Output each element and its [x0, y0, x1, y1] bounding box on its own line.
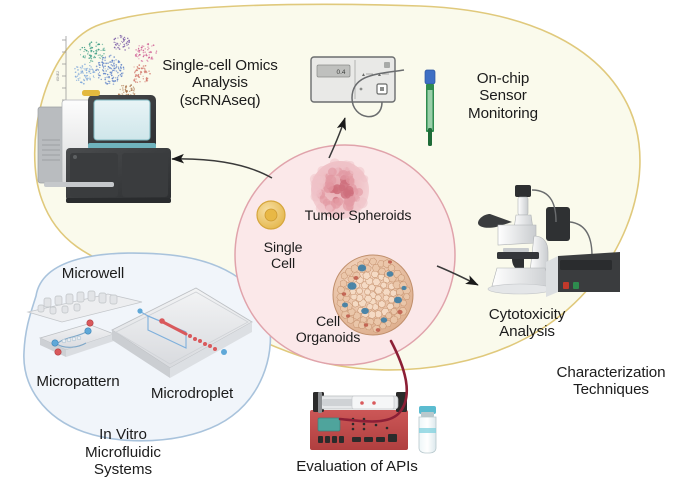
label-on-chip-sensor: On-chip Sensor Monitoring [444, 70, 562, 122]
label-invitro-italic: In Vitro [58, 426, 188, 444]
connectors [0, 0, 685, 490]
figure-canvas: tSNE2 0.4 [0, 0, 685, 490]
label-characterization-techniques: Characterization Techniques [538, 364, 684, 399]
arrow-core-to-sensor [329, 118, 345, 158]
label-tumor-spheroids: Tumor Spheroids [296, 208, 420, 224]
label-invitro-microfluidic-systems: In Vitro Microfluidic Systems [58, 426, 188, 479]
label-evaluation-of-apis: Evaluation of APIs [282, 458, 432, 475]
tubing-core-to-pump [340, 341, 407, 422]
arrow-core-to-sequencer [172, 159, 272, 178]
label-microwell: Microwell [38, 265, 148, 282]
label-microfluidic-systems: Microfluidic Systems [58, 444, 188, 479]
label-micropattern: Micropattern [18, 373, 138, 390]
label-single-cell-omics: Single-cell Omics Analysis (scRNAseq) [135, 57, 305, 109]
label-cell-organoids: Cell Organoids [290, 314, 366, 346]
label-cytotoxicity-analysis: Cytotoxicity Analysis [466, 306, 588, 341]
arrow-core-to-microscope [437, 266, 478, 285]
label-single-cell: Single Cell [245, 240, 321, 272]
label-microdroplet: Microdroplet [133, 385, 251, 402]
